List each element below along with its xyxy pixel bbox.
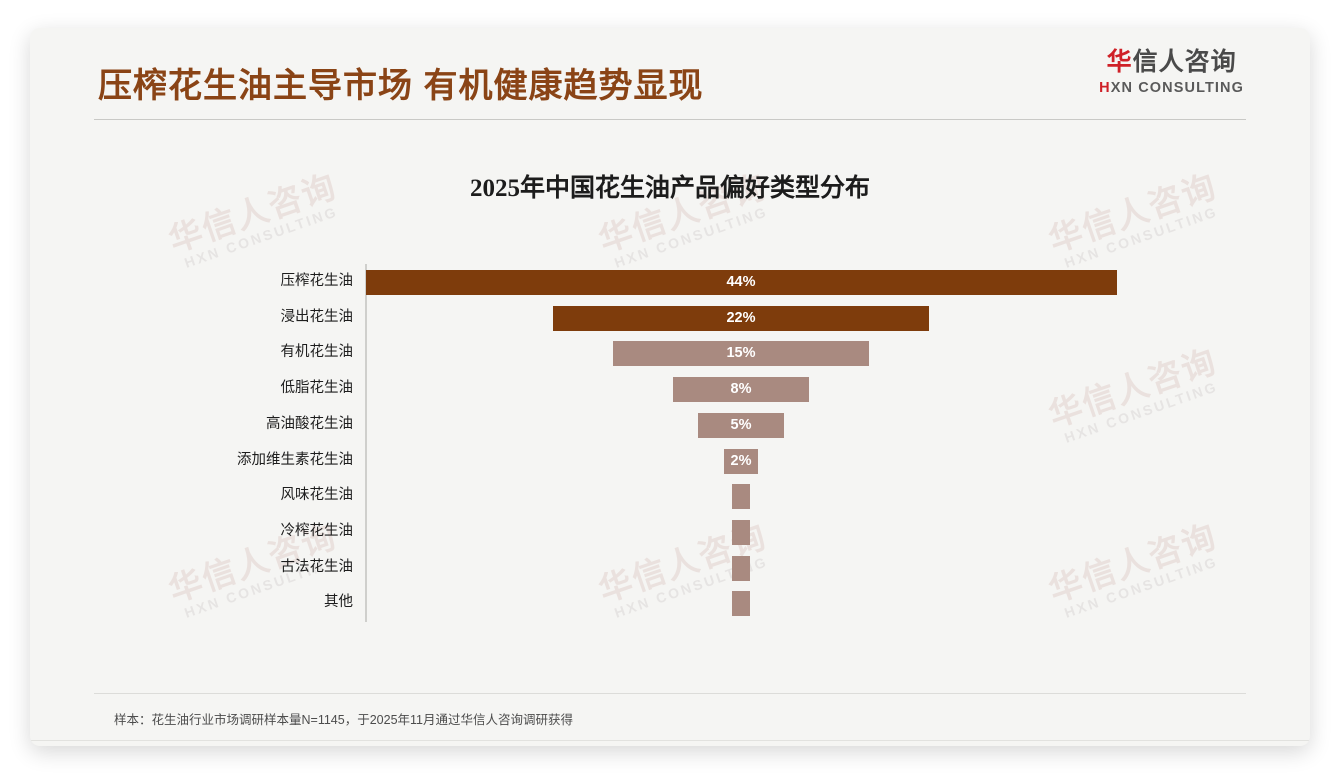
chart-bar-row: 风味花生油 bbox=[100, 478, 1240, 514]
footer-divider bbox=[30, 740, 1310, 741]
brand-logo-en-accent: H bbox=[1099, 80, 1111, 96]
chart-bar[interactable] bbox=[732, 591, 749, 616]
chart-category-label: 其他 bbox=[100, 585, 353, 621]
chart-bar-row: 浸出花生油22% bbox=[100, 300, 1240, 336]
chart-bar[interactable] bbox=[732, 484, 749, 509]
chart-category-label: 添加维生素花生油 bbox=[100, 443, 353, 479]
chart-plot-area: 压榨花生油44%浸出花生油22%有机花生油15%低脂花生油8%高油酸花生油5%添… bbox=[100, 236, 1240, 626]
chart-category-label: 有机花生油 bbox=[100, 335, 353, 371]
chart-bar-row: 压榨花生油44% bbox=[100, 264, 1240, 300]
chart-bar-row: 古法花生油 bbox=[100, 550, 1240, 586]
footnote-divider bbox=[94, 693, 1246, 694]
chart-bar-value: 8% bbox=[673, 377, 810, 402]
brand-logo-en: HXN CONSULTING bbox=[1099, 81, 1244, 96]
chart-bar[interactable] bbox=[732, 556, 749, 581]
chart-category-label: 高油酸花生油 bbox=[100, 407, 353, 443]
slide-header: 压榨花生油主导市场 有机健康趋势显现 华信人咨询 HXN CONSULTING bbox=[30, 28, 1310, 120]
chart-source-note: 样本：花生油行业市场调研样本量N=1145，于2025年11月通过华信人咨询调研… bbox=[114, 709, 573, 728]
brand-logo-cn: 华信人咨询 bbox=[1099, 50, 1244, 75]
chart-bar-row: 冷榨花生油 bbox=[100, 514, 1240, 550]
chart-category-label: 古法花生油 bbox=[100, 550, 353, 586]
chart-bar-row: 低脂花生油8% bbox=[100, 371, 1240, 407]
brand-logo: 华信人咨询 HXN CONSULTING bbox=[1099, 50, 1244, 96]
chart-bar-value: 44% bbox=[366, 270, 1117, 295]
brand-logo-en-rest: XN CONSULTING bbox=[1111, 80, 1244, 96]
chart-bar-value: 5% bbox=[698, 413, 783, 438]
chart-bar-value: 22% bbox=[553, 306, 929, 331]
chart-category-label: 风味花生油 bbox=[100, 478, 353, 514]
chart-bar-row: 添加维生素花生油2% bbox=[100, 443, 1240, 479]
chart-category-label: 冷榨花生油 bbox=[100, 514, 353, 550]
chart-bar-value: 2% bbox=[724, 449, 758, 474]
chart-bar[interactable] bbox=[732, 520, 749, 545]
chart-category-label: 浸出花生油 bbox=[100, 300, 353, 336]
header-divider bbox=[94, 119, 1246, 120]
page-title: 压榨花生油主导市场 有机健康趋势显现 bbox=[98, 58, 703, 107]
chart-bar-row: 其他 bbox=[100, 585, 1240, 621]
chart-title: 2025年中国花生油产品偏好类型分布 bbox=[30, 168, 1310, 204]
chart-bar-row: 高油酸花生油5% bbox=[100, 407, 1240, 443]
chart-bar-value: 15% bbox=[613, 341, 869, 366]
brand-logo-cn-rest: 信人咨询 bbox=[1133, 48, 1237, 76]
chart-category-label: 低脂花生油 bbox=[100, 371, 353, 407]
brand-logo-cn-accent: 华 bbox=[1107, 48, 1133, 76]
chart-bar-row: 有机花生油15% bbox=[100, 335, 1240, 371]
slide: 华信人咨询 HXN CONSULTING 华信人咨询 HXN CONSULTIN… bbox=[30, 28, 1310, 746]
chart-category-label: 压榨花生油 bbox=[100, 264, 353, 300]
